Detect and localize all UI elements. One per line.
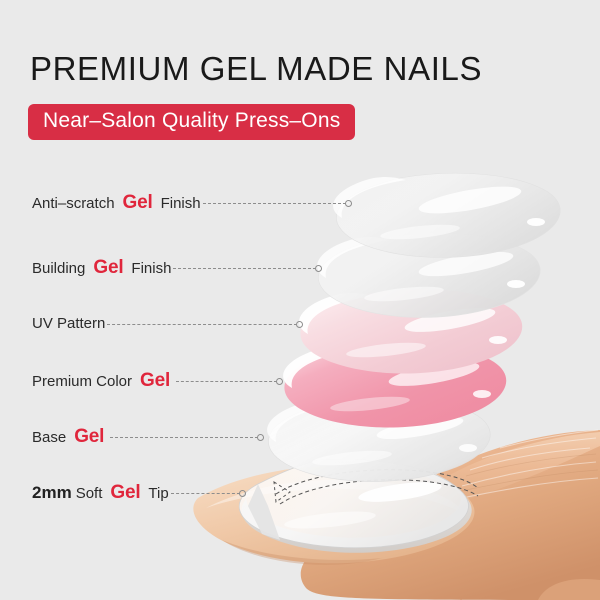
callout-label-building-gel-finish: Building Gel Finish xyxy=(0,258,171,277)
label-part-text: 2mm xyxy=(32,484,72,501)
leader-line-base-gel xyxy=(110,437,258,438)
leader-endpoint-dot-anti-scratch-gel-finish xyxy=(345,200,352,207)
label-part-text: Soft xyxy=(76,486,103,501)
leader-line-anti-scratch-gel-finish xyxy=(203,203,346,204)
callout-row-anti-scratch-gel-finish: Anti–scratch Gel Finish xyxy=(0,191,352,213)
callout-label-base-gel: Base Gel xyxy=(0,427,108,446)
poster-canvas: PREMIUM GEL MADE NAILS Near–Salon Qualit… xyxy=(0,0,600,600)
leader-endpoint-dot-uv-pattern xyxy=(296,321,303,328)
label-part-text: Premium Color xyxy=(32,374,132,389)
label-part-text: Building xyxy=(32,261,85,276)
layer-uv-pattern xyxy=(299,289,522,373)
nail-layers-illustration xyxy=(0,0,600,600)
label-part-gel: Gel xyxy=(89,258,127,277)
callout-label-premium-color-gel: Premium Color Gel xyxy=(0,371,174,390)
layer-soft-gel-tip xyxy=(239,459,478,553)
page-title: PREMIUM GEL MADE NAILS xyxy=(30,50,482,88)
leader-line-2mm-soft-gel-tip xyxy=(171,493,240,494)
leader-line-uv-pattern xyxy=(107,324,297,325)
label-part-text: Anti–scratch xyxy=(32,196,115,211)
label-part-text: Finish xyxy=(161,196,201,211)
leader-line-premium-color-gel xyxy=(176,381,277,382)
label-part-gel: Gel xyxy=(119,193,157,212)
label-part-gel: Gel xyxy=(70,427,108,446)
callout-row-base-gel: Base Gel xyxy=(0,425,264,447)
layer-anti-scratch-gel-finish xyxy=(333,173,560,257)
leader-endpoint-dot-2mm-soft-gel-tip xyxy=(239,490,246,497)
leader-endpoint-dot-building-gel-finish xyxy=(315,265,322,272)
label-part-gel: Gel xyxy=(136,371,174,390)
callout-label-2mm-soft-gel-tip: 2mm Soft Gel Tip xyxy=(0,483,169,502)
subtitle-badge: Near–Salon Quality Press–Ons xyxy=(28,104,355,140)
layer-building-gel-finish xyxy=(317,233,540,317)
callout-row-2mm-soft-gel-tip: 2mm Soft Gel Tip xyxy=(0,481,246,503)
layer-premium-color-gel xyxy=(283,343,506,427)
label-part-text: Tip xyxy=(148,486,168,501)
callout-row-uv-pattern: UV Pattern xyxy=(0,312,303,334)
label-part-gel: Gel xyxy=(106,483,144,502)
fingertip xyxy=(193,430,600,600)
leader-endpoint-dot-base-gel xyxy=(257,434,264,441)
label-part-text: UV Pattern xyxy=(32,316,105,331)
leader-line-building-gel-finish xyxy=(173,268,316,269)
callout-row-building-gel-finish: Building Gel Finish xyxy=(0,256,322,278)
callout-label-anti-scratch-gel-finish: Anti–scratch Gel Finish xyxy=(0,193,201,212)
leader-endpoint-dot-premium-color-gel xyxy=(276,378,283,385)
callout-label-uv-pattern: UV Pattern xyxy=(0,316,105,331)
label-part-text: Base xyxy=(32,430,66,445)
layer-base-gel xyxy=(267,397,490,481)
label-part-text: Finish xyxy=(131,261,171,276)
callout-row-premium-color-gel: Premium Color Gel xyxy=(0,369,283,391)
